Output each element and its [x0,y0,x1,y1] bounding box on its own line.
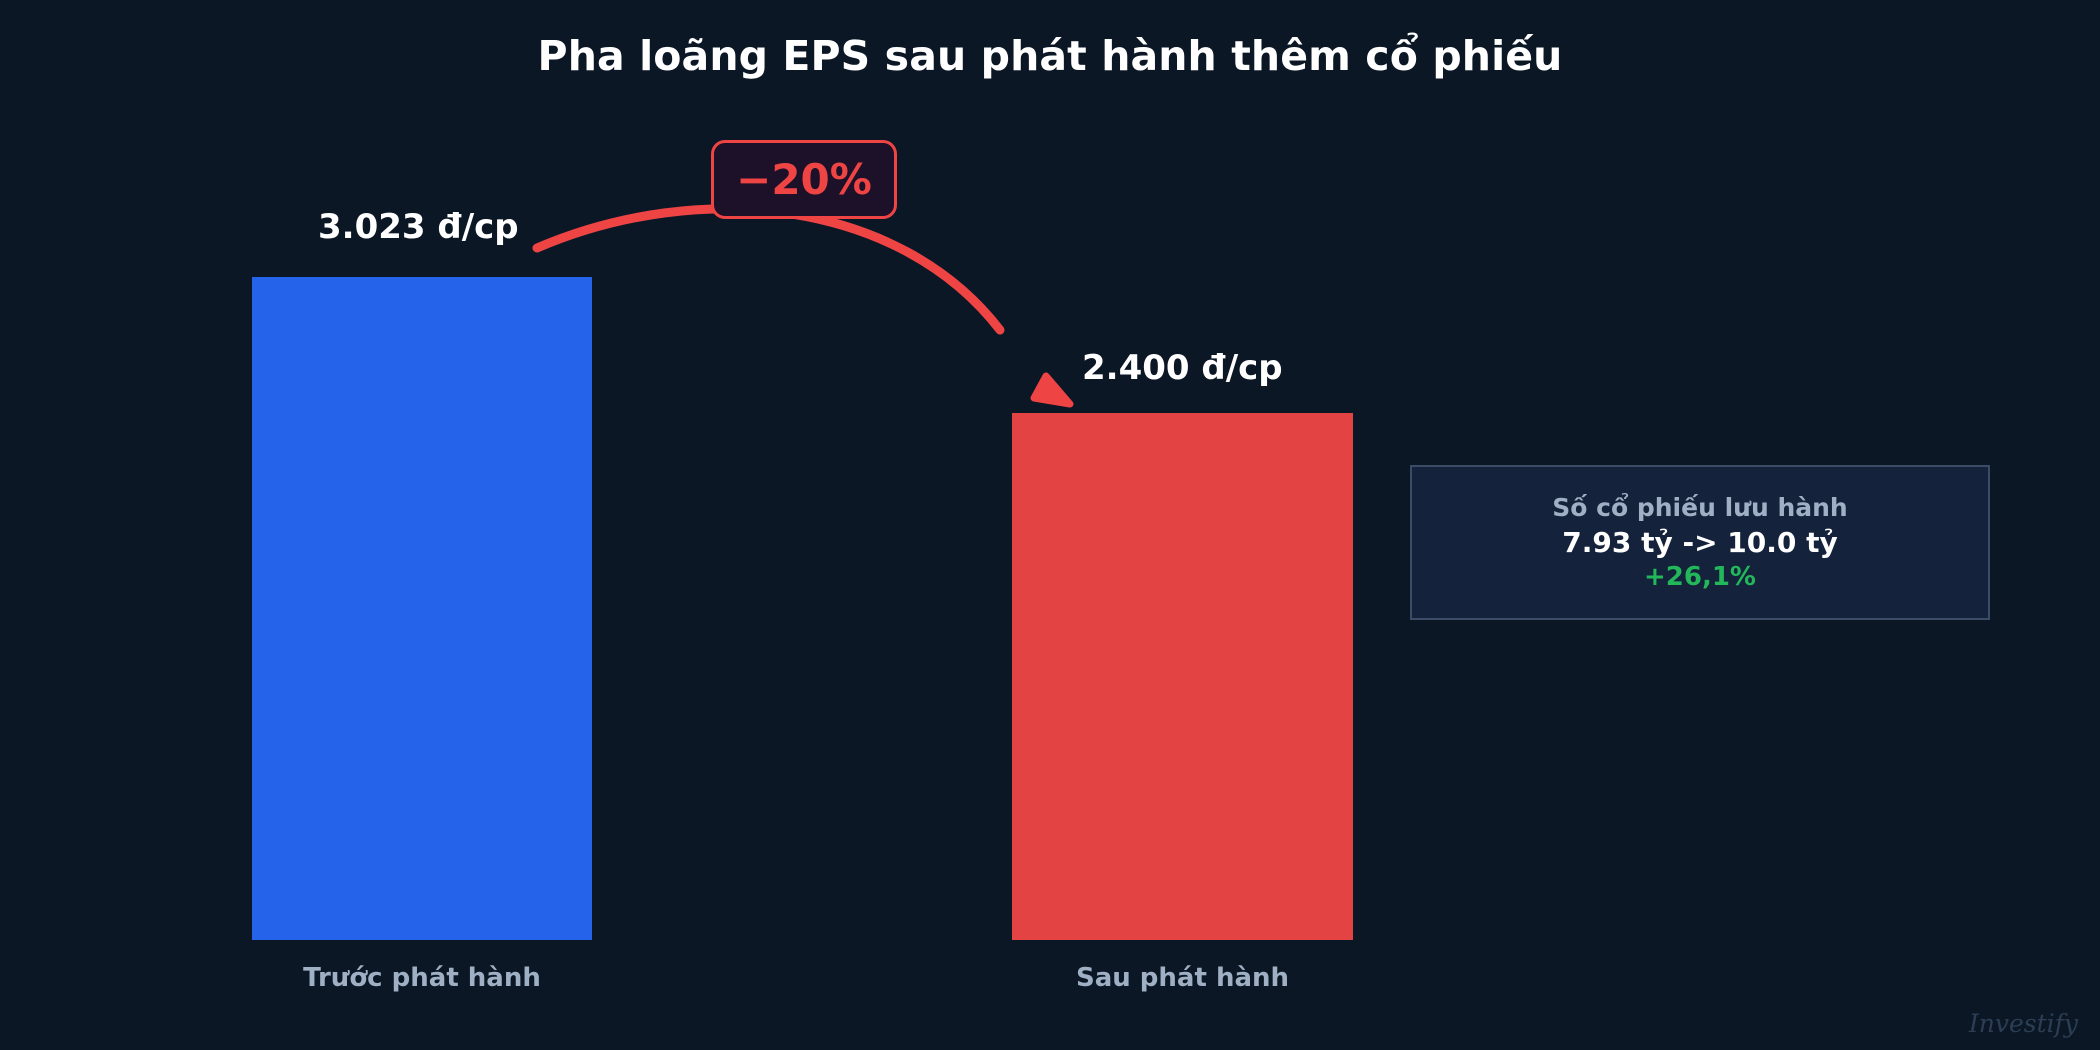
shares-outstanding-panel: Số cổ phiếu lưu hành 7.93 tỷ -> 10.0 tỷ … [1410,465,1990,620]
chart-canvas: Pha loãng EPS sau phát hành thêm cổ phiế… [0,0,2100,1050]
page-title: Pha loãng EPS sau phát hành thêm cổ phiế… [0,32,2100,80]
shares-panel-title: Số cổ phiếu lưu hành [1552,493,1847,522]
bar-truoc-phat-hanh [252,277,592,940]
shares-panel-values: 7.93 tỷ -> 10.0 tỷ [1562,526,1838,559]
bar-value-label-before: 3.023 đ/cp [318,207,519,247]
category-label-before: Trước phát hành [252,963,592,993]
delta-badge-label: −20% [736,159,872,201]
delta-badge: −20% [711,140,897,219]
shares-panel-change: +26,1% [1644,562,1756,592]
watermark: Investify [1969,1009,2078,1038]
bar-sau-phat-hanh [1012,413,1353,940]
bar-value-label-after: 2.400 đ/cp [1082,348,1283,388]
category-label-after: Sau phát hành [1012,963,1353,993]
